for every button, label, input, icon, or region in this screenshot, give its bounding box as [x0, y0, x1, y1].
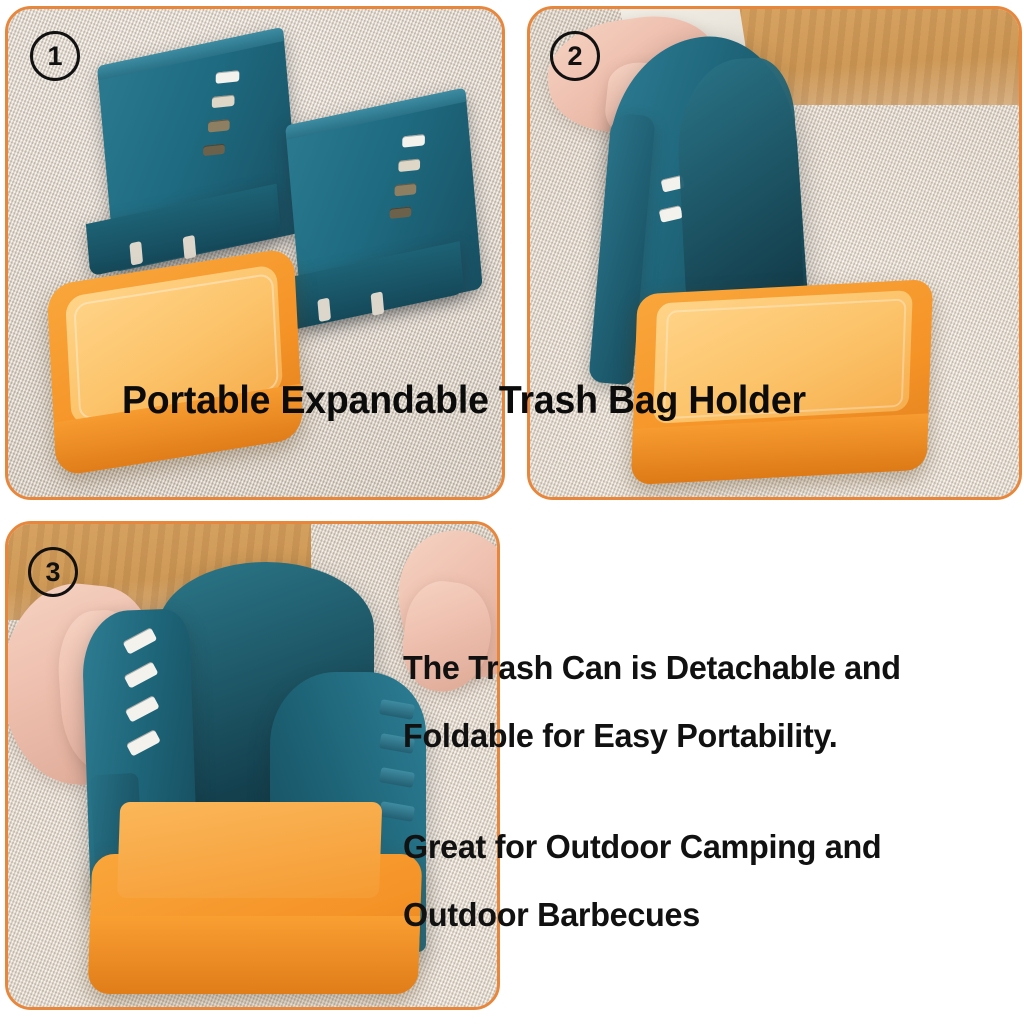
slot-icon [125, 695, 160, 722]
step-badge-3: 3 [28, 547, 78, 597]
step-badge-1: 1 [30, 31, 80, 81]
orange-base-tray [47, 247, 304, 477]
main-headline: Portable Expandable Trash Bag Holder [122, 381, 806, 420]
slot-icon [398, 159, 420, 172]
slot-icon [203, 144, 225, 156]
slot-icon [122, 627, 157, 654]
slot-icon [402, 134, 425, 148]
slot-icon [659, 205, 683, 223]
slot-icon [216, 70, 240, 84]
notch-icon [183, 235, 197, 260]
tray-front-face [88, 916, 421, 994]
tab-icon [379, 801, 415, 822]
step-badge-2: 2 [550, 31, 600, 81]
notch-icon [317, 298, 331, 323]
product-photo-panel-2: 2 [527, 6, 1022, 500]
slot-icon [126, 729, 161, 756]
slot-icon [212, 95, 235, 109]
product-photo-panel-3: 3 [5, 521, 500, 1010]
notch-icon [129, 241, 143, 266]
slot-icon [395, 183, 417, 196]
slot-icon [390, 206, 412, 218]
infographic-canvas: 1 2 [0, 0, 1024, 1024]
feature-text-line: Outdoor Barbecues [403, 898, 700, 931]
slot-icon [208, 119, 230, 132]
feature-text-line: Great for Outdoor Camping and [403, 830, 881, 863]
tray-inner-surface [117, 802, 382, 898]
slot-icon [124, 661, 159, 688]
notch-icon [371, 291, 385, 316]
orange-base-tray [88, 854, 423, 994]
feature-text-line: The Trash Can is Detachable and [403, 651, 901, 684]
feature-text-line: Foldable for Easy Portability. [403, 719, 837, 752]
teal-panel-inner-shadow [674, 56, 804, 302]
tab-icon [379, 767, 415, 788]
product-photo-panel-1: 1 [5, 6, 505, 500]
